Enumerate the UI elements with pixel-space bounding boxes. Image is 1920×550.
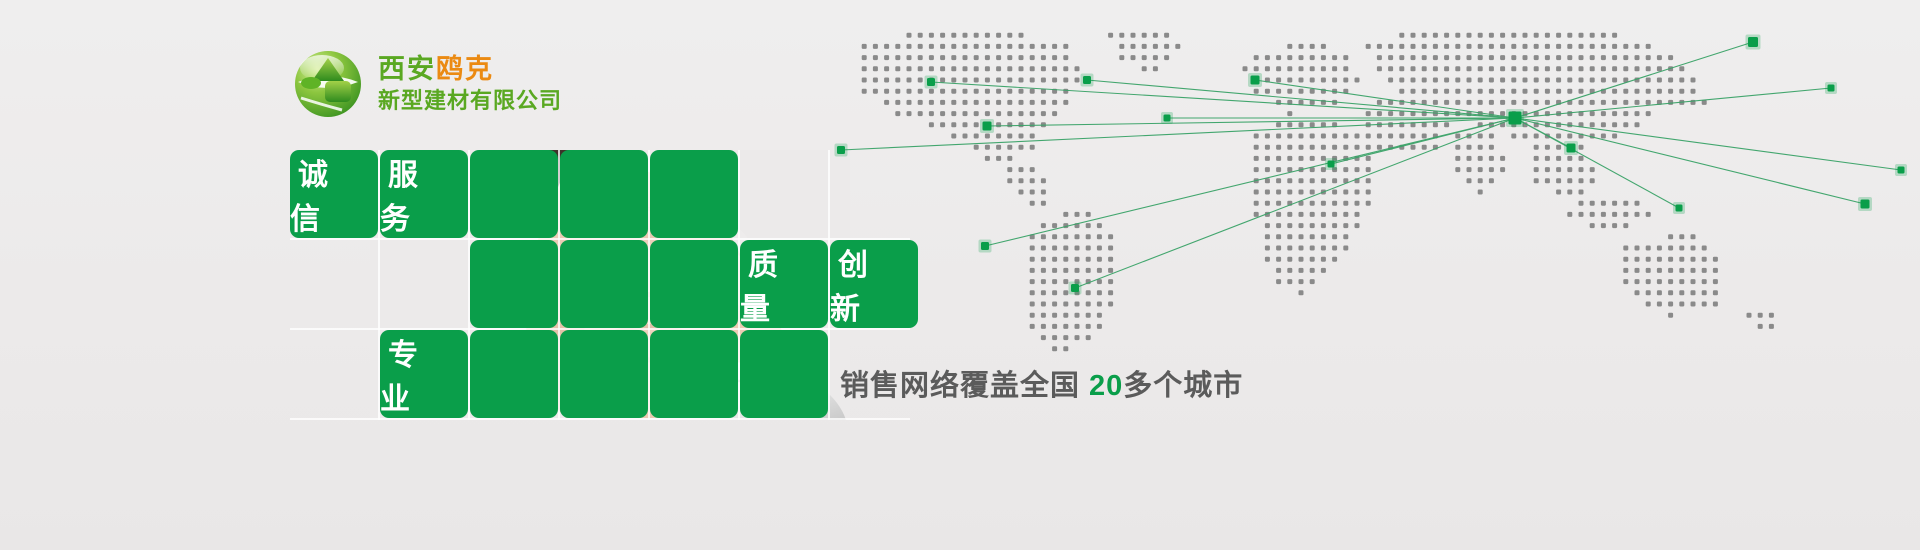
value-tile-blank xyxy=(470,240,558,328)
logo-brand-name: 鸥克 xyxy=(436,54,494,84)
logo-company-name-line2: 新型建材有限公司 xyxy=(378,88,562,114)
value-tile-blank xyxy=(650,330,738,418)
value-tile-blank xyxy=(560,240,648,328)
value-tile-chengxin[interactable]: 诚 信 xyxy=(290,150,378,238)
value-tile-fuwu[interactable]: 服 务 xyxy=(380,150,468,238)
company-banner: 西安鸥克 新型建材有限公司 xyxy=(0,0,1920,550)
company-logo[interactable]: 西安鸥克 新型建材有限公司 xyxy=(292,44,562,124)
logo-text-block: 西安鸥克 新型建材有限公司 xyxy=(378,54,562,115)
value-tile-blank xyxy=(560,330,648,418)
green-sphere-leaf-logo-icon xyxy=(292,48,364,120)
tagline-tail: 多个城市 xyxy=(1123,370,1243,402)
value-tile-blank xyxy=(470,150,558,238)
value-tile-blank xyxy=(650,150,738,238)
grid-line-h xyxy=(290,418,910,420)
value-tile-zhuanye[interactable]: 专 业 xyxy=(380,330,468,418)
value-tile-blank xyxy=(470,330,558,418)
logo-city-name: 西安 xyxy=(378,54,436,84)
logo-company-name-line1: 西安鸥克 xyxy=(378,54,562,85)
value-tile-blank xyxy=(650,240,738,328)
tagline-city-count: 20 xyxy=(1089,370,1123,402)
dotted-world-map xyxy=(735,18,1915,368)
sales-network-tagline: 销售网络覆盖全国20多个城市 xyxy=(840,362,1243,404)
tagline-lead: 销售网络覆盖全国 xyxy=(840,370,1080,402)
value-tile-blank xyxy=(560,150,648,238)
